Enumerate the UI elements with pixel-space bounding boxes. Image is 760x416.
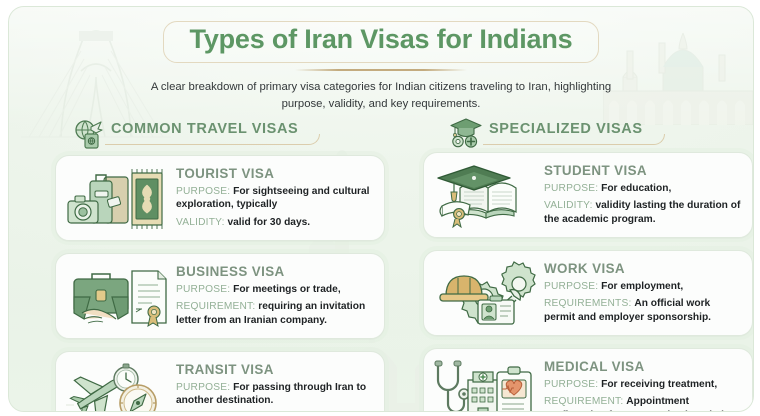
card-body: TOURIST VISA PURPOSE: For sightseeing an… xyxy=(176,167,374,229)
card-row: REQUIREMENT: Appointment confirmation fr… xyxy=(544,395,742,412)
luggage-camera-carpet-icon xyxy=(64,165,170,231)
card-row: PURPOSE: For passing through Iran to ano… xyxy=(176,381,374,408)
globe-airplane-passport-icon xyxy=(71,117,103,147)
row-label: PURPOSE: xyxy=(544,183,598,194)
card-row: VALIDITY: validity lasting the duration … xyxy=(544,199,742,226)
section-label-wrap: COMMON TRAVEL VISAS xyxy=(111,120,298,144)
card-work-visa[interactable]: WORK VISA PURPOSE: For employment, REQUI… xyxy=(423,250,753,336)
title-box: Types of Iran Visas for Indians xyxy=(163,21,600,63)
row-value: For meetings or trade, xyxy=(233,284,341,295)
infographic-canvas: Types of Iran Visas for Indians A clear … xyxy=(8,6,754,412)
card-row: PURPOSE: For education, xyxy=(544,182,742,195)
row-label: VALIDITY: xyxy=(176,217,225,228)
row-label: PURPOSE: xyxy=(544,281,598,292)
card-body: WORK VISA PURPOSE: For employment, REQUI… xyxy=(544,262,742,324)
card-body: MEDICAL VISA PURPOSE: For receiving trea… xyxy=(544,360,742,412)
card-title: TRANSIT VISA xyxy=(176,363,374,378)
card-row: REQUIREMENT: requiring an invitation let… xyxy=(176,300,374,327)
card-title: STUDENT VISA xyxy=(544,164,742,179)
card-body: TRANSIT VISA PURPOSE: For passing throug… xyxy=(176,363,374,412)
graduation-cap-gear-medical-icon xyxy=(449,117,481,147)
card-student-visa[interactable]: STUDENT VISA PURPOSE: For education, VAL… xyxy=(423,152,753,238)
column-specialized-visas: STUDENT VISA PURPOSE: For education, VAL… xyxy=(423,152,753,412)
page-title: Types of Iran Visas for Indians xyxy=(190,25,573,55)
card-medical-visa[interactable]: MEDICAL VISA PURPOSE: For receiving trea… xyxy=(423,348,753,412)
card-transit-visa[interactable]: TRANSIT VISA PURPOSE: For passing throug… xyxy=(55,351,385,412)
row-label: PURPOSE: xyxy=(176,284,230,295)
row-label: PURPOSE: xyxy=(176,186,230,197)
section-underline-swoosh xyxy=(483,134,665,145)
row-value: For employment, xyxy=(601,281,683,292)
card-row: VALIDITY: valid for 30 days. xyxy=(176,216,374,229)
card-row: REQUIREMENTS: An official work permit an… xyxy=(544,297,742,324)
row-label: VALIDITY: xyxy=(544,200,593,211)
header: Types of Iran Visas for Indians A clear … xyxy=(9,7,753,114)
column-common-travel-visas: TOURIST VISA PURPOSE: For sightseeing an… xyxy=(55,155,385,412)
card-row: PURPOSE: For employment, xyxy=(544,280,742,293)
card-title: WORK VISA xyxy=(544,262,742,277)
row-value: valid for 30 days. xyxy=(227,217,310,228)
card-row: PURPOSE: For receiving treatment, xyxy=(544,378,742,391)
section-label-wrap: SPECIALIZED VISAS xyxy=(489,120,643,144)
briefcase-handshake-certificate-icon xyxy=(64,263,170,329)
section-underline-swoosh xyxy=(105,134,320,145)
card-title: MEDICAL VISA xyxy=(544,360,742,375)
section-header-common-travel-visas: COMMON TRAVEL VISAS xyxy=(71,117,298,147)
row-label: REQUIREMENT: xyxy=(544,396,623,407)
row-label: REQUIREMENT: xyxy=(176,301,255,312)
row-value: For education, xyxy=(601,183,671,194)
row-label: PURPOSE: xyxy=(544,379,598,390)
hardhat-gear-wrench-idbadge-icon xyxy=(432,260,538,326)
graduation-cap-diploma-book-icon xyxy=(432,162,538,228)
card-body: STUDENT VISA PURPOSE: For education, VAL… xyxy=(544,164,742,226)
card-row: PURPOSE: For meetings or trade, xyxy=(176,283,374,296)
row-value: For receiving treatment, xyxy=(601,379,717,390)
airplane-clock-compass-icon xyxy=(64,361,170,412)
row-label: PURPOSE: xyxy=(176,382,230,393)
card-title: BUSINESS VISA xyxy=(176,265,374,280)
card-title: TOURIST VISA xyxy=(176,167,374,182)
card-business-visa[interactable]: BUSINESS VISA PURPOSE: For meetings or t… xyxy=(55,253,385,339)
card-tourist-visa[interactable]: TOURIST VISA PURPOSE: For sightseeing an… xyxy=(55,155,385,241)
card-body: BUSINESS VISA PURPOSE: For meetings or t… xyxy=(176,265,374,327)
title-underline-rule xyxy=(295,69,467,71)
card-row: PURPOSE: For sightseeing and cultural ex… xyxy=(176,185,374,212)
row-label: REQUIREMENTS: xyxy=(544,298,632,309)
subtitle: A clear breakdown of primary visa catego… xyxy=(146,79,616,114)
stethoscope-hospital-clipboard-icon xyxy=(432,358,538,412)
section-header-specialized-visas: SPECIALIZED VISAS xyxy=(449,117,643,147)
